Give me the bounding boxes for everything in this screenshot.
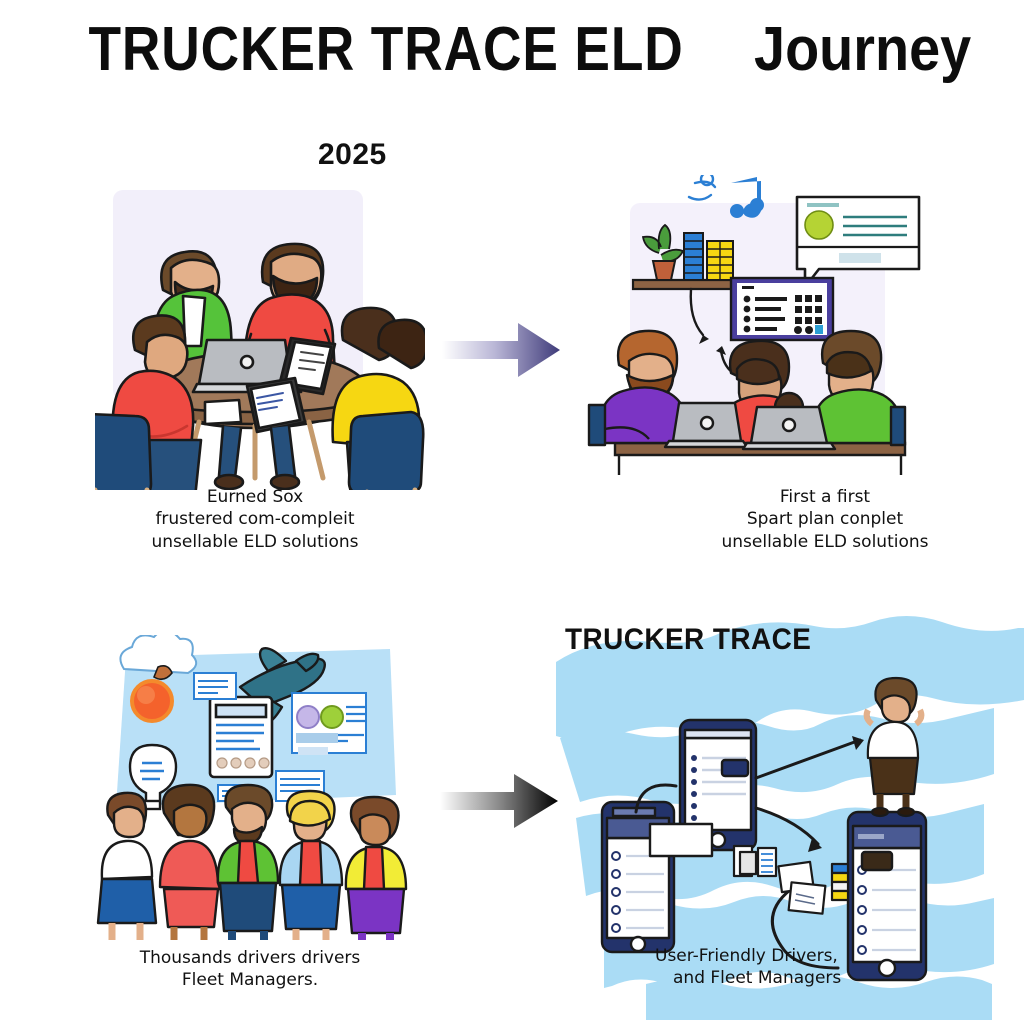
yellow-boxes (707, 241, 733, 280)
caption-panel-desks: First a first Spart plan conplet unsella… (640, 486, 1010, 553)
caption-line: Spart plan conplet (640, 508, 1010, 530)
caption-line: unsellable ELD solutions (75, 531, 435, 553)
infographic-canvas: TRUCKER TRACE ELDJourney 2025 (0, 0, 1024, 1024)
caption-panel-map: User-Friendly Drivers, and Fleet Manager… (655, 945, 985, 990)
text-card-small (194, 673, 236, 699)
document-card (210, 697, 272, 777)
person-5 (346, 797, 406, 940)
caption-line: unsellable ELD solutions (640, 531, 1010, 553)
caption-line: and Fleet Managers (673, 967, 985, 989)
panel-drivers (90, 635, 430, 940)
panel-desks (585, 175, 930, 475)
laptop-right (743, 407, 835, 449)
caption-line: Eurned Sox (75, 486, 435, 508)
caption-line: User-Friendly Drivers, (655, 945, 985, 967)
page-title-main: TRUCKER TRACE ELD (89, 14, 684, 85)
chart-card (292, 693, 366, 755)
caption-line: Thousands drivers drivers (60, 947, 440, 969)
caption-line: Fleet Managers. (60, 969, 440, 991)
caption-panel-meeting: Eurned Sox frustered com-compleit unsell… (75, 486, 435, 553)
panel-map-brand-label: TRUCKER TRACE (565, 623, 811, 657)
person-1 (98, 793, 156, 940)
person-3 (218, 785, 278, 940)
page-title-sub: Journey (755, 14, 972, 85)
color-bars-icon (832, 864, 848, 900)
laptop-left (665, 403, 747, 447)
caption-panel-drivers: Thousands drivers drivers Fleet Managers… (60, 947, 440, 992)
sun-icon (132, 681, 172, 721)
person-on-map (867, 678, 922, 816)
blue-boxes (684, 233, 703, 280)
flow-arrow-bottom (438, 768, 563, 834)
panel-meeting (95, 190, 425, 490)
year-label: 2025 (318, 138, 387, 172)
wall-monitor (731, 278, 833, 340)
chair-right (349, 412, 425, 490)
page-title: TRUCKER TRACE ELDJourney (0, 14, 1024, 85)
caption-line: frustered com-compleit (75, 508, 435, 530)
person-2 (160, 785, 220, 940)
chair-left (95, 414, 157, 490)
flow-arrow-top (440, 315, 565, 385)
person-4 (280, 791, 342, 940)
caption-line: First a first (640, 486, 1010, 508)
